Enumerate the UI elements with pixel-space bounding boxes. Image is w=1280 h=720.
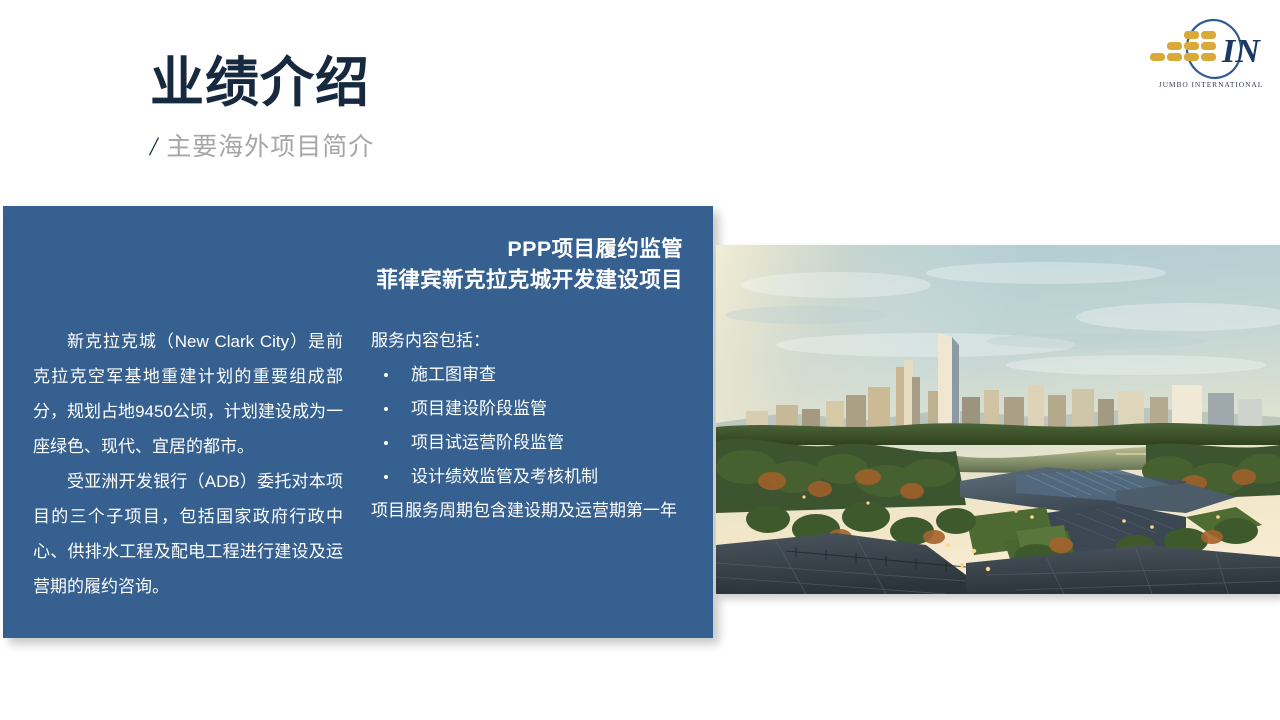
project-description-paragraph-2: 受亚洲开发银行（ADB）委托对本项目的三个子项目，包括国家政府行政中心、供排水工… — [33, 464, 343, 604]
list-item: 施工图审查 — [371, 358, 681, 392]
project-description-paragraph-1: 新克拉克城（New Clark City）是前克拉克空军基地重建计划的重要组成部… — [33, 324, 343, 464]
project-card-heading-line1: PPP项目履约监管 — [507, 237, 683, 261]
slide: 业绩介绍 / 主要海外项目简介 IN — [0, 0, 1280, 720]
list-item: 项目试运营阶段监管 — [371, 426, 681, 460]
slide-header: 业绩介绍 / 主要海外项目简介 — [0, 0, 1280, 190]
bullet-icon — [384, 441, 388, 445]
service-period-note: 项目服务周期包含建设期及运营期第一年 — [371, 494, 681, 528]
list-item-label: 项目试运营阶段监管 — [411, 433, 564, 452]
service-scope-list: 施工图审查 项目建设阶段监管 项目试运营阶段监管 设计绩效监管及考核机制 — [371, 358, 681, 494]
service-scope-column: 服务内容包括： 施工图审查 项目建设阶段监管 项目试运营阶段监管 — [371, 324, 681, 604]
project-description-column: 新克拉克城（New Clark City）是前克拉克空军基地重建计划的重要组成部… — [33, 324, 343, 604]
company-logo: IN JUMBO INTERNATIONAL — [1148, 18, 1274, 98]
jumbo-logo-icon: IN — [1148, 18, 1274, 80]
project-card-heading-line2: 菲律宾新克拉克城开发建设项目 — [33, 265, 683, 296]
bullet-icon — [384, 373, 388, 377]
subtitle-text: 主要海外项目简介 — [166, 127, 374, 163]
page-title: 业绩介绍 — [150, 55, 370, 112]
page-subtitle: / 主要海外项目简介 — [150, 127, 374, 163]
list-item: 项目建设阶段监管 — [371, 392, 681, 426]
logo-caption: JUMBO INTERNATIONAL — [1148, 80, 1274, 89]
bullet-icon — [384, 475, 388, 479]
list-item-label: 设计绩效监管及考核机制 — [411, 467, 598, 486]
project-card: PPP项目履约监管 菲律宾新克拉克城开发建设项目 新克拉克城（New Clark… — [3, 206, 713, 638]
service-scope-lead: 服务内容包括： — [371, 324, 681, 358]
project-card-heading: PPP项目履约监管 菲律宾新克拉克城开发建设项目 — [33, 234, 683, 295]
list-item-label: 施工图审查 — [411, 365, 496, 384]
list-item: 设计绩效监管及考核机制 — [371, 460, 681, 494]
project-card-body: 新克拉克城（New Clark City）是前克拉克空军基地重建计划的重要组成部… — [3, 324, 713, 604]
project-rendering-image — [716, 245, 1280, 594]
bullet-icon — [384, 407, 388, 411]
subtitle-slash-icon: / — [150, 132, 157, 162]
list-item-label: 项目建设阶段监管 — [411, 399, 547, 418]
svg-text:IN: IN — [1221, 33, 1261, 70]
